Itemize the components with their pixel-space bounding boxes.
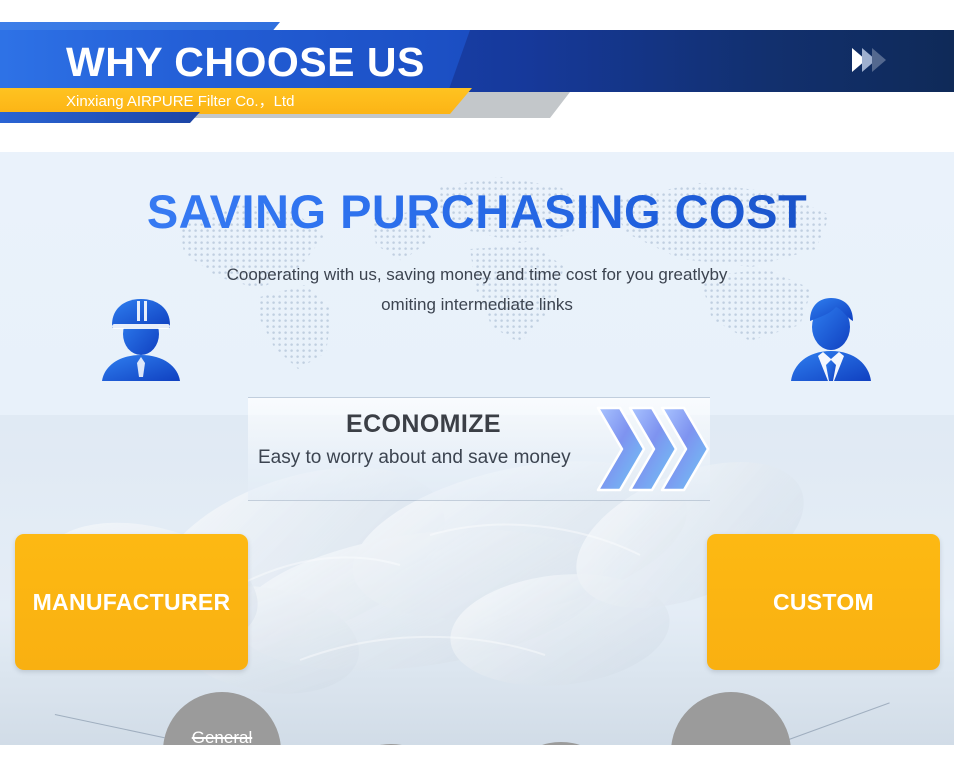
chevron-3-icon xyxy=(872,48,886,72)
double-chevron-right-icon xyxy=(852,48,882,72)
card-manufacturer[interactable]: MANUFACTURER xyxy=(15,534,248,670)
content-panel: SAVING PURCHASING COST Cooperating with … xyxy=(0,152,954,745)
band-guide-line-bottom xyxy=(248,500,710,501)
businessman-suit-icon xyxy=(786,295,876,381)
economize-subtitle: Easy to worry about and save money xyxy=(258,447,571,469)
page-title: WHY CHOOSE US xyxy=(66,38,425,86)
triple-chevron-right-icon xyxy=(596,402,712,496)
company-name: Xinxiang AIRPURE Filter Co.，Ltd xyxy=(66,92,294,111)
banner-bottom-tail xyxy=(0,112,200,123)
economize-title: ECONOMIZE xyxy=(346,410,501,439)
header-banner: WHY CHOOSE US Xinxiang AIRPURE Filter Co… xyxy=(0,0,954,152)
subtitle-line-1: Cooperating with us, saving money and ti… xyxy=(0,262,954,288)
worker-hardhat-icon xyxy=(96,295,186,381)
main-title: SAVING PURCHASING COST xyxy=(0,184,954,239)
card-custom[interactable]: CUSTOM xyxy=(707,534,940,670)
